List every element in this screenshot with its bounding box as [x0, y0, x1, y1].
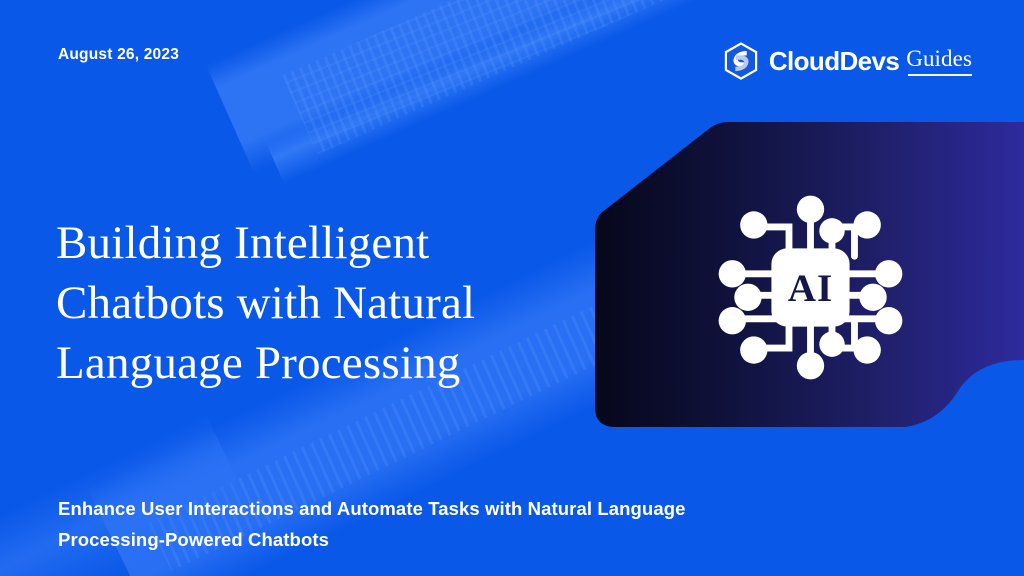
page-subtitle: Enhance User Interactions and Automate T…: [58, 493, 718, 557]
page-title: Building Intelligent Chatbots with Natur…: [56, 214, 586, 393]
ai-visual-card: AI: [560, 110, 1024, 460]
brand-sub-wrap: Guides: [906, 47, 972, 76]
slide-date: August 26, 2023: [58, 46, 179, 64]
hexagon-swoosh-icon: [720, 40, 762, 82]
brand-logo[interactable]: CloudDevs Guides: [720, 40, 972, 82]
brand-name: CloudDevs: [769, 48, 899, 74]
brand-sub-name: Guides: [906, 46, 972, 71]
brand-sub-underline: [908, 74, 972, 76]
card-shape: [560, 110, 1024, 460]
slide-canvas: August 26, 2023 CloudDevs Guides Buildin…: [0, 0, 1024, 576]
